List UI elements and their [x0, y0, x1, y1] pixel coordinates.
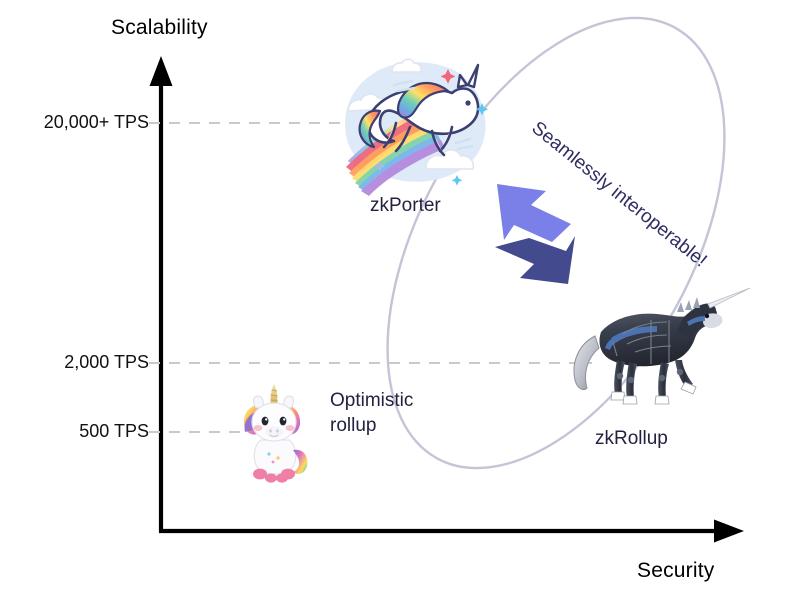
node-label-optimistic-rollup: Optimistic rollup: [330, 388, 460, 438]
y-tick-label-500: 500 TPS: [79, 421, 149, 442]
x-axis-title: Security: [637, 559, 714, 583]
node-label-zkrollup: zkRollup: [595, 426, 668, 451]
flying-rainbow-unicorn-icon: [345, 59, 488, 196]
node-label-zkporter: zkPorter: [370, 193, 441, 218]
two-way-swap-arrows-icon: [495, 184, 575, 284]
y-tick-label-20000: 20,000+ TPS: [44, 112, 149, 133]
baby-unicorn-icon: [244, 384, 307, 483]
y-axis-title: Scalability: [111, 16, 208, 40]
diagram-vector-layer: [0, 0, 795, 600]
diagram-canvas: Scalability Security 20,000+ TPS 2,000 T…: [0, 0, 795, 600]
robot-unicorn-icon: [574, 288, 750, 404]
y-tick-label-2000: 2,000 TPS: [64, 352, 149, 373]
